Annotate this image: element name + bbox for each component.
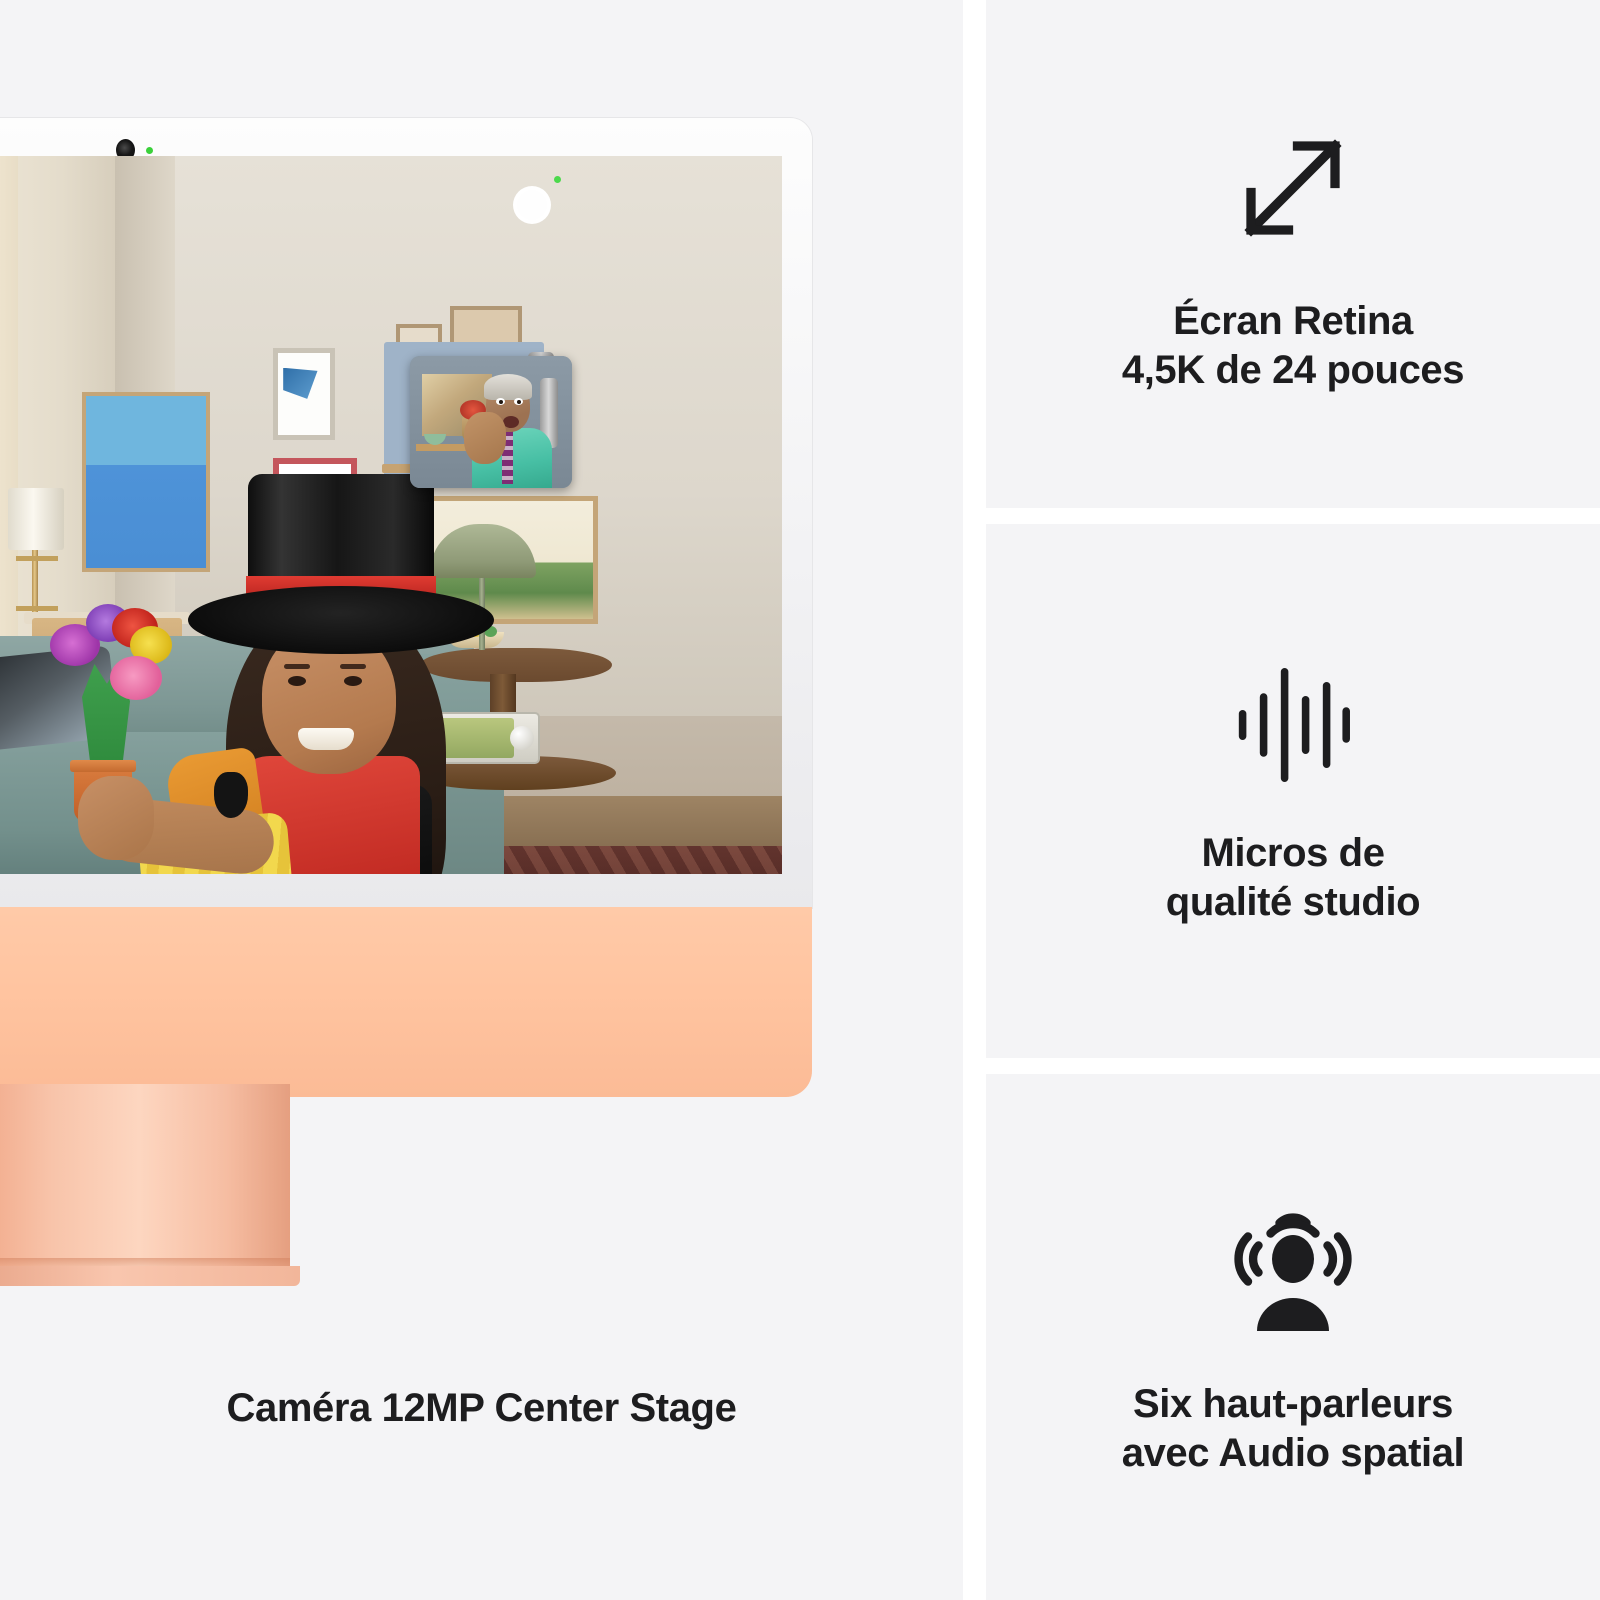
feature-title-retina-display: Écran Retina 4,5K de 24 pouces [1122,297,1464,395]
imac-chin [0,907,812,1097]
child-hand [78,776,154,860]
imac-stand [0,1084,290,1272]
feature-panel-studio-mics: Micros de qualité studio [986,524,1600,1058]
side-table [420,648,612,682]
imac-display [0,156,782,874]
magic-flowers [110,656,162,700]
facetime-capture-button[interactable] [513,186,551,224]
spatial-audio-person-icon [1218,1196,1368,1346]
product-feature-gallery: Caméra 12MP Center Stage Écran Retina 4,… [0,0,1600,1600]
feature-title-studio-mics: Micros de qualité studio [1166,829,1420,927]
audio-waveform-icon [1223,655,1363,795]
floor-lamp [8,488,64,550]
feature-title-spatial-audio: Six haut-parleurs avec Audio spatial [1122,1380,1465,1478]
facetime-video-scene [0,156,782,874]
camera-feature-panel: Caméra 12MP Center Stage [0,0,963,1600]
recording-indicator-icon [554,176,561,183]
feature-panel-spatial-audio: Six haut-parleurs avec Audio spatial [986,1074,1600,1600]
wall-art-blue [82,392,210,572]
expand-diagonal-arrows-icon [1218,113,1368,263]
facetime-pip-tile[interactable] [410,356,572,488]
camera-feature-caption: Caméra 12MP Center Stage [0,1386,963,1431]
imac-device [0,118,812,1078]
feature-panel-retina-display: Écran Retina 4,5K de 24 pouces [986,0,1600,508]
imac-stand-foot [0,1266,300,1286]
camera-indicator-led [146,147,153,154]
wall-art-white [273,348,335,440]
